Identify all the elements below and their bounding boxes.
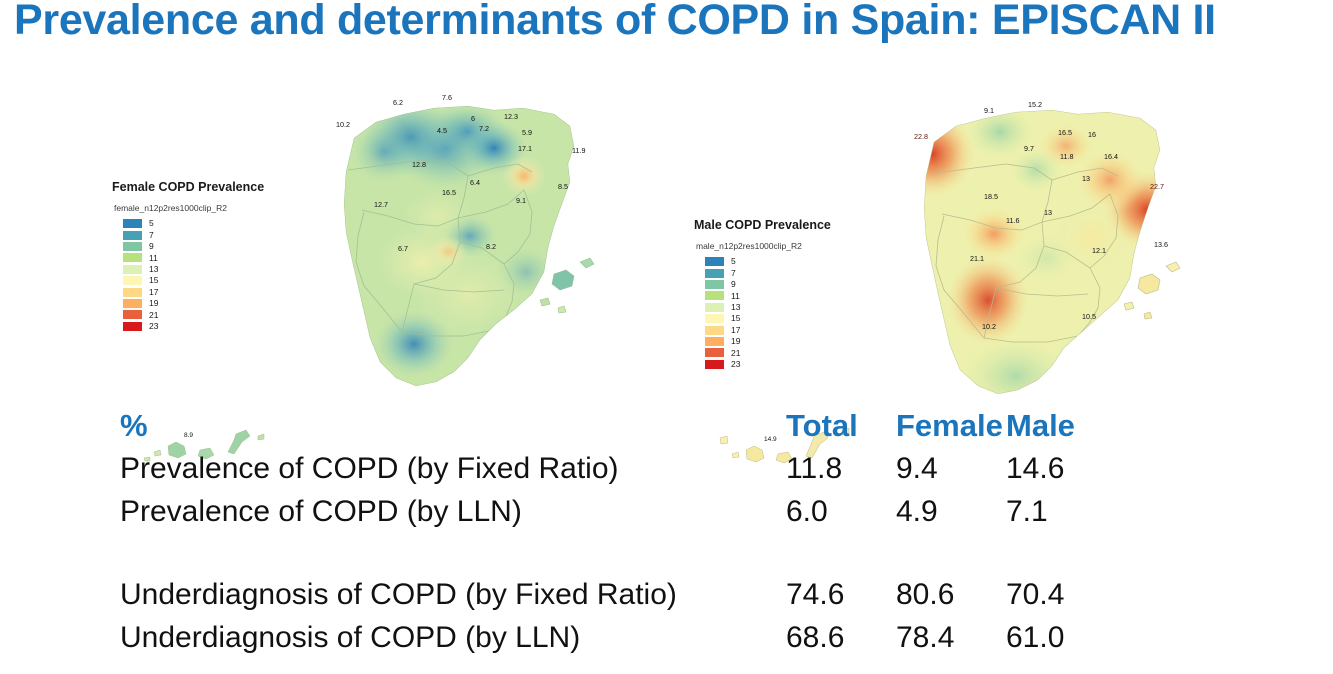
row-female: 4.9 — [896, 495, 1006, 529]
row-label: Underdiagnosis of COPD (by Fixed Ratio) — [120, 578, 786, 612]
female-header: Female — [896, 408, 1006, 444]
balearic-islands-female — [540, 258, 594, 313]
legend-item: 23 — [704, 359, 831, 370]
map-point-label: 13.6 — [1154, 240, 1168, 249]
total-header: Total — [786, 408, 896, 444]
legend-item: 15 — [704, 313, 831, 324]
map-point-label: 10.5 — [1082, 312, 1096, 321]
row-female: 9.4 — [896, 452, 1006, 486]
legend-swatch-icon — [704, 347, 725, 358]
legend-value: 5 — [731, 257, 736, 266]
row-male: 61.0 — [1006, 621, 1116, 655]
legend-value: 9 — [731, 280, 736, 289]
legend-value: 21 — [731, 349, 740, 358]
legend-value: 7 — [149, 231, 154, 240]
legend-item: 5 — [704, 256, 831, 267]
map-point-label: 8.5 — [558, 182, 568, 191]
legend-value: 15 — [149, 276, 158, 285]
male-header: Male — [1006, 408, 1116, 444]
row-male: 70.4 — [1006, 578, 1116, 612]
results-table: % Total Female Male Prevalence of COPD (… — [120, 408, 1200, 664]
map-point-label: 7.2 — [479, 124, 489, 133]
map-point-label: 12.7 — [374, 200, 388, 209]
male-legend-title: Male COPD Prevalence — [694, 218, 831, 232]
map-point-label: 10.2 — [982, 322, 996, 331]
map-point-label: 21.1 — [970, 254, 984, 263]
row-label: Prevalence of COPD (by Fixed Ratio) — [120, 452, 786, 486]
female-map-svg — [318, 86, 608, 456]
row-female: 78.4 — [896, 621, 1006, 655]
legend-item: 21 — [122, 309, 264, 320]
legend-swatch-icon — [122, 230, 143, 241]
map-point-label: 11.9 — [572, 146, 585, 155]
row-male: 14.6 — [1006, 452, 1116, 486]
legend-swatch-icon — [704, 359, 725, 370]
map-point-label: 13 — [1082, 174, 1090, 183]
legend-item: 9 — [122, 241, 264, 252]
map-point-label: 16.5 — [1058, 128, 1072, 137]
map-point-label: 12.1 — [1092, 246, 1106, 255]
female-legend-subtitle: female_n12p2res1000clip_R2 — [114, 203, 264, 213]
legend-swatch-icon — [704, 336, 725, 347]
row-total: 6.0 — [786, 495, 896, 529]
table-header-row: % Total Female Male — [120, 408, 1200, 452]
map-point-label: 7.6 — [442, 93, 452, 102]
table-row: Underdiagnosis of COPD (by Fixed Ratio) … — [120, 578, 1200, 621]
legend-value: 9 — [149, 242, 154, 251]
legend-value: 21 — [149, 311, 158, 320]
legend-value: 23 — [149, 322, 158, 331]
legend-item: 5 — [122, 218, 264, 229]
legend-swatch-icon — [704, 256, 725, 267]
table-spacer — [120, 538, 1200, 578]
map-point-label: 12.8 — [412, 160, 426, 169]
legend-item: 11 — [122, 252, 264, 263]
legend-value: 23 — [731, 360, 740, 369]
male-legend-subtitle: male_n12p2res1000clip_R2 — [696, 241, 831, 251]
map-point-label: 10.2 — [336, 120, 350, 129]
legend-item: 15 — [122, 275, 264, 286]
table-row: Underdiagnosis of COPD (by LLN) 68.6 78.… — [120, 621, 1200, 664]
map-point-label: 16 — [1088, 130, 1096, 139]
table-row: Prevalence of COPD (by LLN) 6.0 4.9 7.1 — [120, 495, 1200, 538]
legend-item: 19 — [704, 336, 831, 347]
page-title: Prevalence and determinants of COPD in S… — [14, 0, 1333, 48]
legend-value: 5 — [149, 219, 154, 228]
legend-swatch-icon — [704, 268, 725, 279]
map-point-label: 5.9 — [522, 128, 532, 137]
female-legend-rows: 5 7 9 11 13 15 17 19 21 23 — [122, 218, 264, 332]
male-legend: Male COPD Prevalence male_n12p2res1000cl… — [694, 218, 831, 370]
legend-swatch-icon — [704, 279, 725, 290]
map-point-label: 6.7 — [398, 244, 408, 253]
legend-item: 9 — [704, 279, 831, 290]
map-point-label: 6.2 — [393, 98, 403, 107]
legend-value: 19 — [731, 337, 740, 346]
legend-value: 19 — [149, 299, 158, 308]
legend-swatch-icon — [122, 252, 143, 263]
legend-value: 11 — [149, 254, 158, 263]
male-legend-rows: 5 7 9 11 13 15 17 19 21 23 — [704, 256, 831, 370]
legend-value: 17 — [149, 288, 158, 297]
legend-swatch-icon — [122, 321, 143, 332]
legend-swatch-icon — [704, 325, 725, 336]
legend-item: 13 — [704, 302, 831, 313]
map-point-label: 17.1 — [518, 144, 532, 153]
legend-value: 7 — [731, 269, 736, 278]
row-total: 11.8 — [786, 452, 896, 486]
legend-item: 13 — [122, 264, 264, 275]
row-total: 74.6 — [786, 578, 896, 612]
row-label: Prevalence of COPD (by LLN) — [120, 495, 786, 529]
legend-item: 21 — [704, 347, 831, 358]
legend-value: 11 — [731, 292, 740, 301]
legend-item: 23 — [122, 321, 264, 332]
row-male: 7.1 — [1006, 495, 1116, 529]
map-point-label: 6 — [471, 114, 475, 123]
row-label: Underdiagnosis of COPD (by LLN) — [120, 621, 786, 655]
unit-header: % — [120, 408, 786, 444]
map-point-label: 8.2 — [486, 242, 496, 251]
legend-value: 13 — [149, 265, 158, 274]
legend-item: 7 — [122, 229, 264, 240]
female-legend: Female COPD Prevalence female_n12p2res10… — [112, 180, 264, 332]
legend-swatch-icon — [122, 264, 143, 275]
map-point-label: 22.7 — [1150, 182, 1164, 191]
table-row: Prevalence of COPD (by Fixed Ratio) 11.8… — [120, 452, 1200, 495]
map-point-label: 11.8 — [1060, 152, 1073, 161]
legend-swatch-icon — [122, 218, 143, 229]
legend-item: 17 — [704, 324, 831, 335]
map-point-label: 9.7 — [1024, 144, 1034, 153]
legend-swatch-icon — [122, 298, 143, 309]
legend-item: 11 — [704, 290, 831, 301]
legend-item: 19 — [122, 298, 264, 309]
female-legend-title: Female COPD Prevalence — [112, 180, 264, 194]
map-point-label: 6.4 — [470, 178, 480, 187]
legend-value: 15 — [731, 314, 740, 323]
legend-swatch-icon — [122, 287, 143, 298]
map-point-label: 11.6 — [1006, 216, 1019, 225]
map-point-label: 15.2 — [1028, 100, 1042, 109]
map-point-label: 16.5 — [442, 188, 456, 197]
map-point-label: 9.1 — [984, 106, 994, 115]
map-point-label: 4.5 — [437, 126, 447, 135]
legend-swatch-icon — [704, 302, 725, 313]
legend-swatch-icon — [122, 309, 143, 320]
map-point-label: 12.3 — [504, 112, 518, 121]
legend-value: 17 — [731, 326, 740, 335]
map-point-label: 18.5 — [984, 192, 998, 201]
map-point-label: 16.4 — [1104, 152, 1118, 161]
map-point-label: 22.8 — [914, 132, 928, 141]
legend-item: 7 — [704, 267, 831, 278]
legend-swatch-icon — [122, 275, 143, 286]
row-total: 68.6 — [786, 621, 896, 655]
balearic-islands-male — [1124, 262, 1180, 319]
female-prevalence-map: 10.2 6.2 7.6 4.5 6 7.2 12.3 5.9 17.1 11.… — [318, 86, 608, 456]
row-female: 80.6 — [896, 578, 1006, 612]
map-point-label: 13 — [1044, 208, 1052, 217]
map-point-label: 9.1 — [516, 196, 526, 205]
legend-item: 17 — [122, 286, 264, 297]
legend-value: 13 — [731, 303, 740, 312]
legend-swatch-icon — [122, 241, 143, 252]
legend-swatch-icon — [704, 313, 725, 324]
legend-swatch-icon — [704, 290, 725, 301]
